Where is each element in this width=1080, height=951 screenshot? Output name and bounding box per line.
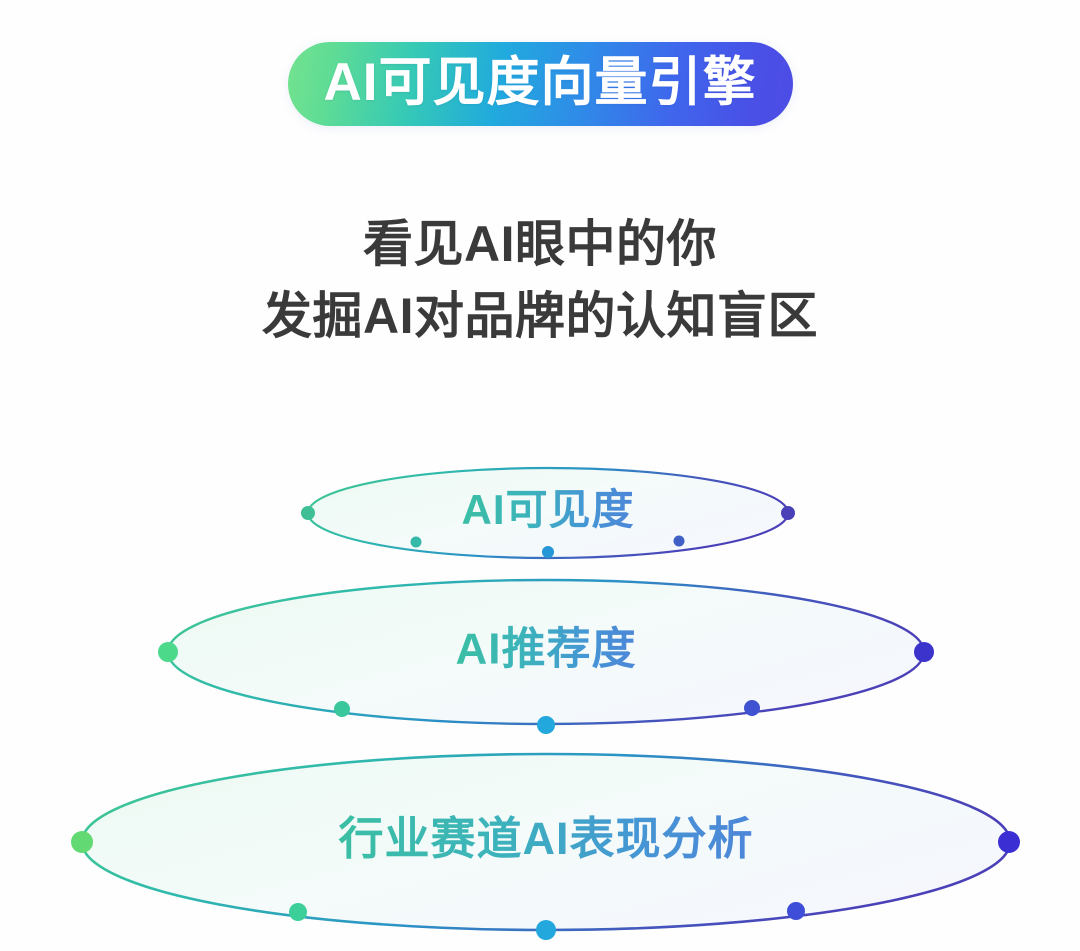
dot-bottom-3 [744, 700, 760, 716]
dot-bottom-1 [334, 701, 350, 717]
dot-bottom-2 [537, 716, 555, 734]
ellipse-label-visibility: AI可见度 [461, 486, 634, 533]
dot-bottom-2 [536, 920, 556, 940]
subtitle-line-1: 看见AI眼中的你 [0, 208, 1080, 280]
title-banner-pill: AI可见度向量引擎 [288, 42, 793, 126]
dot-left [71, 831, 93, 853]
ellipse-layer-industry[interactable]: 行业赛道AI表现分析 [71, 754, 1020, 940]
dot-bottom-3 [787, 902, 805, 920]
page-title: AI可见度向量引擎 [324, 56, 757, 109]
ellipse-diagram-svg: 行业赛道AI表现分析 AI推荐度 AI可见度 [0, 430, 1080, 951]
dot-right [781, 506, 795, 520]
ellipse-stack-diagram: 行业赛道AI表现分析 AI推荐度 AI可见度 [0, 430, 1080, 951]
page-root: AI可见度向量引擎 看见AI眼中的你 发掘AI对品牌的认知盲区 [0, 0, 1080, 951]
dot-bottom-1 [289, 903, 307, 921]
title-banner-wrapper: AI可见度向量引擎 [0, 42, 1080, 126]
dot-bottom-2 [542, 546, 554, 558]
dot-right [914, 642, 934, 662]
ellipse-layer-recommendation[interactable]: AI推荐度 [158, 580, 934, 734]
ellipse-label-recommendation: AI推荐度 [456, 625, 637, 674]
dot-bottom-3 [674, 536, 685, 547]
subtitle-line-2: 发掘AI对品牌的认知盲区 [0, 280, 1080, 352]
ellipse-layer-visibility[interactable]: AI可见度 [301, 468, 795, 558]
ellipse-label-industry: 行业赛道AI表现分析 [338, 813, 753, 864]
dot-left [158, 642, 178, 662]
dot-left [301, 506, 315, 520]
subtitle-block: 看见AI眼中的你 发掘AI对品牌的认知盲区 [0, 208, 1080, 352]
dot-right [998, 831, 1020, 853]
dot-bottom-1 [411, 537, 422, 548]
